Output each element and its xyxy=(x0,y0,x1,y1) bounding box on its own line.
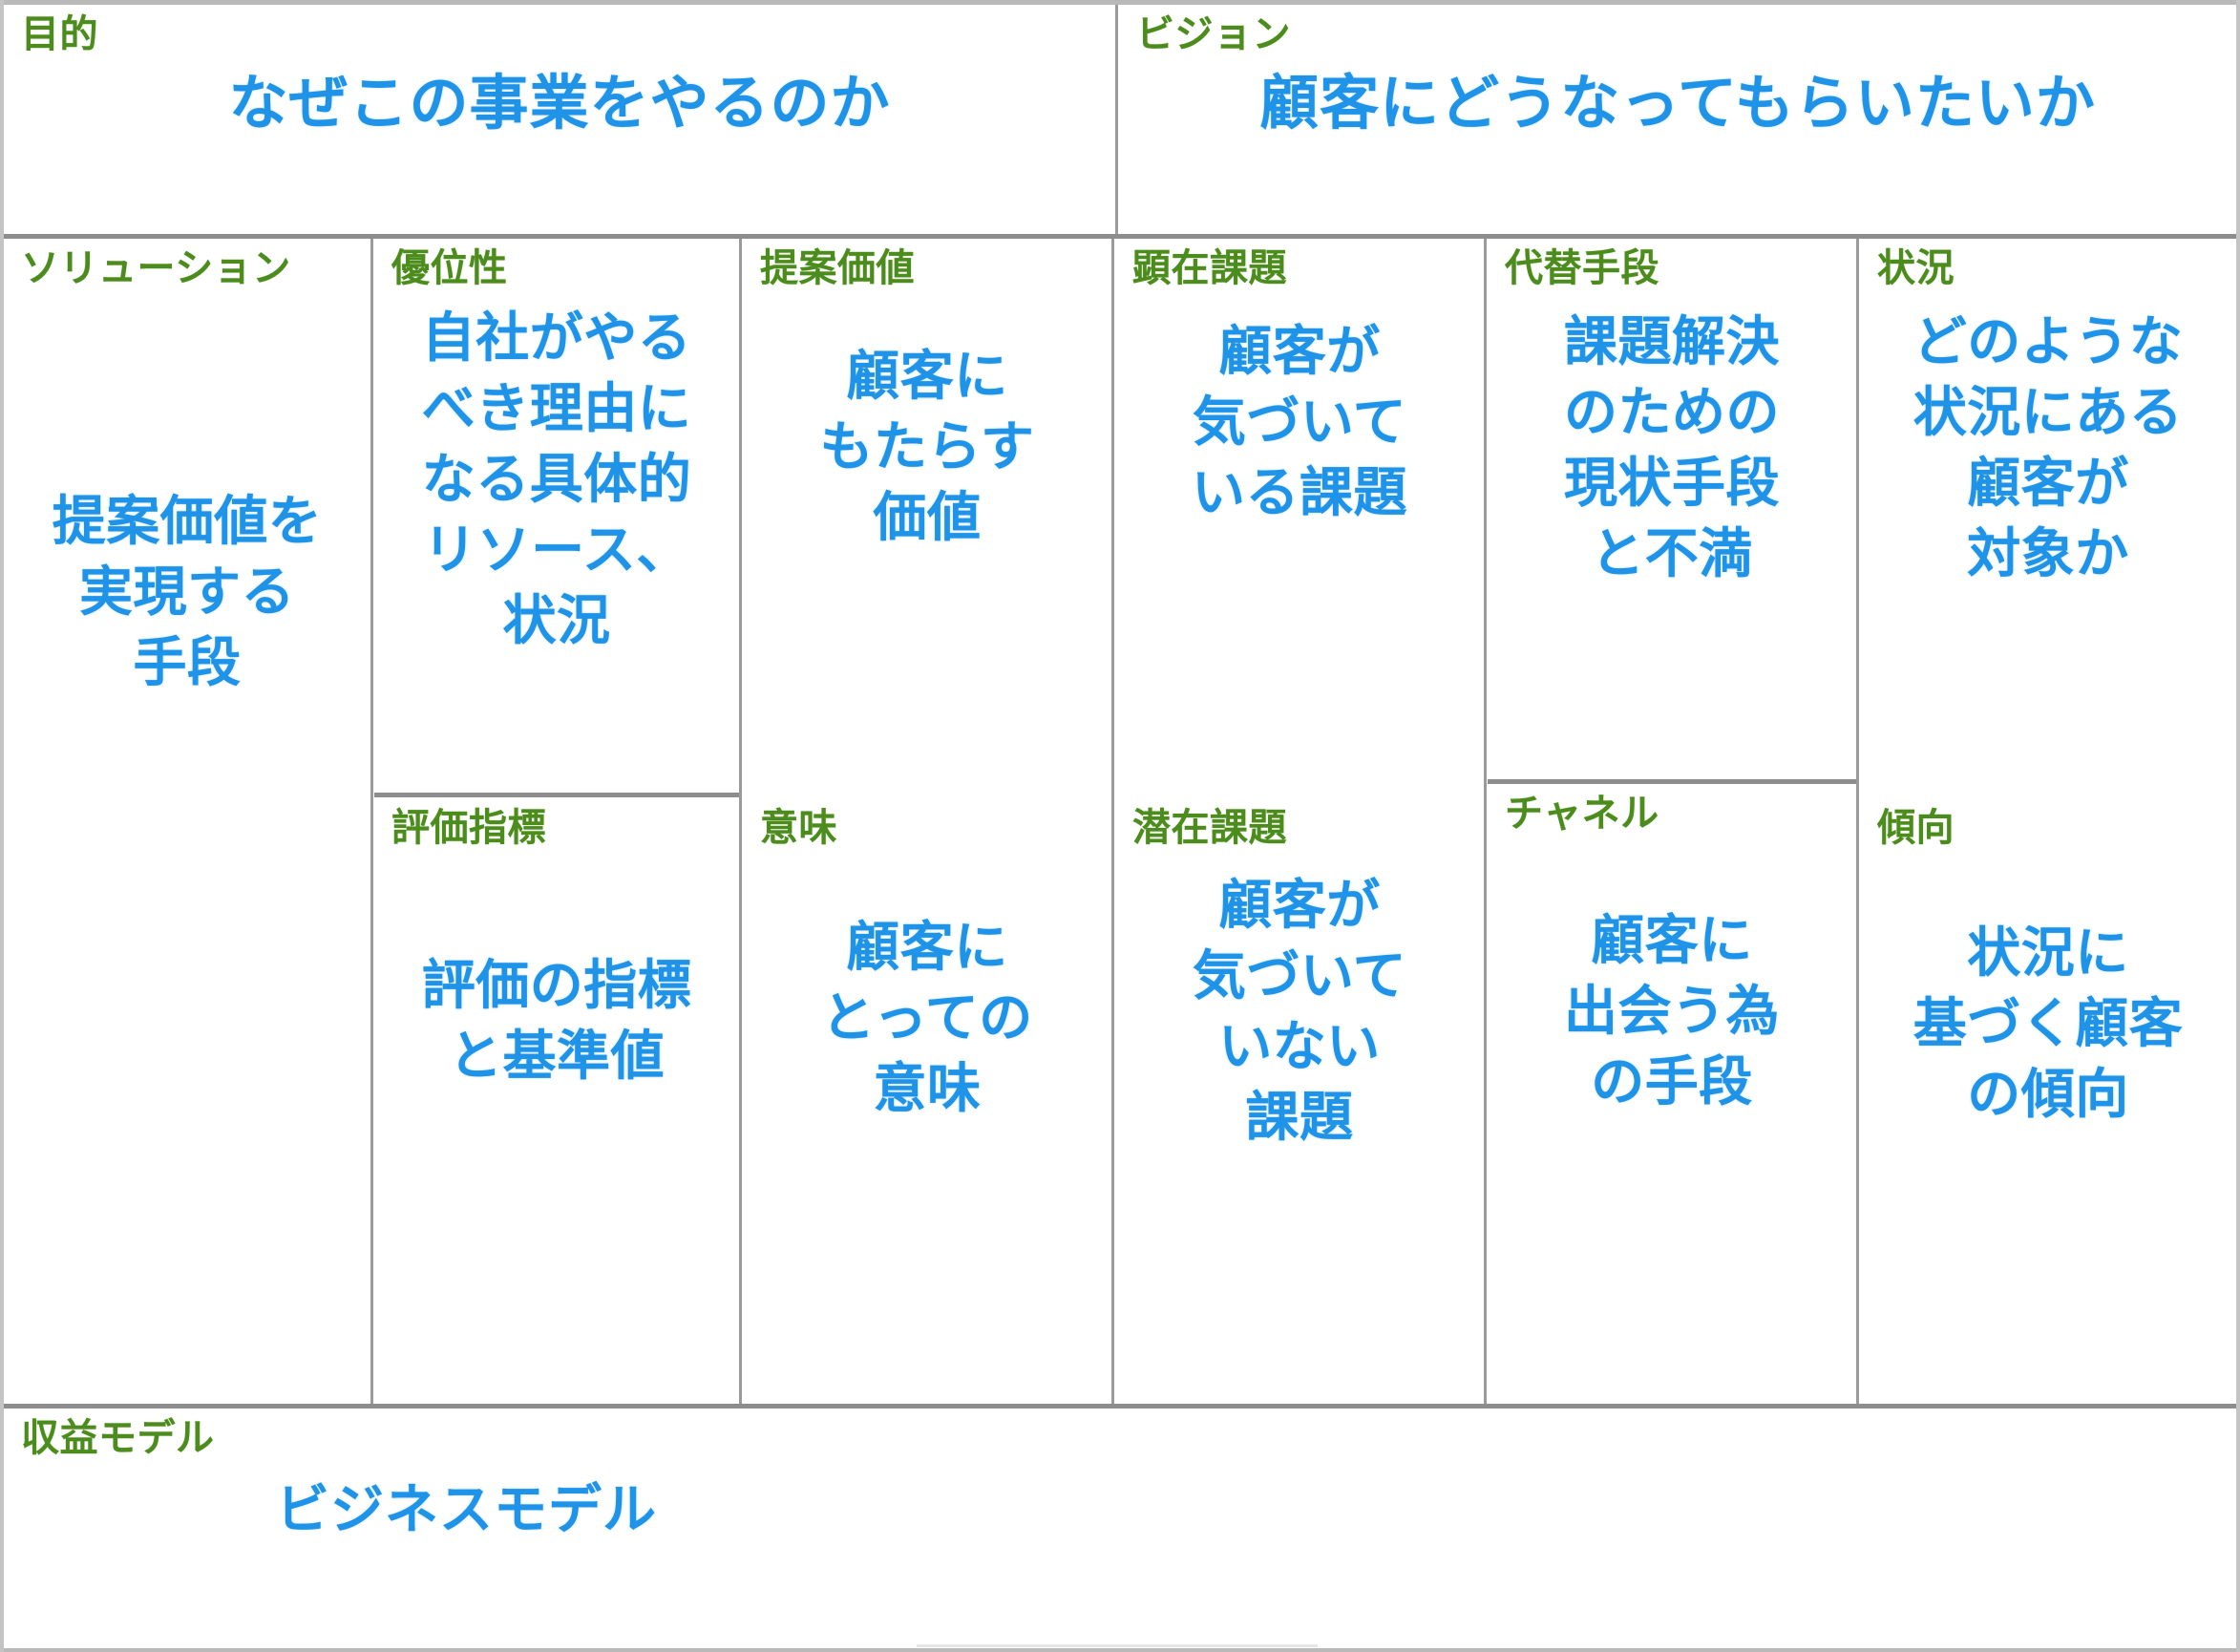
cell-metrics-label: 評価指標 xyxy=(391,806,546,850)
cell-channel-body: 顧客に 出会う為 の手段 xyxy=(1488,906,1856,1118)
cell-situation[interactable]: 状況 どのような 状況にある 顧客が 対象か xyxy=(1860,239,2236,793)
cell-tendency-body: 状況に 基づく顧客 の傾向 xyxy=(1860,919,2236,1131)
divider-top-vertical xyxy=(1115,5,1118,234)
divider-mid-v1 xyxy=(370,239,373,1406)
cell-alternatives[interactable]: 代替手段 課題解決 のための 現状手段 と不満 xyxy=(1488,239,1856,778)
cell-alternatives-body: 課題解決 のための 現状手段 と不満 xyxy=(1488,307,1856,590)
cell-purpose-label: 目的 xyxy=(21,12,98,56)
cell-metrics[interactable]: 評価指標 評価の指標 と基準値 xyxy=(374,798,739,1404)
divider-mid-v5 xyxy=(1856,239,1859,1406)
cell-channel[interactable]: チャネル 顧客に 出会う為 の手段 xyxy=(1488,784,1856,1404)
cell-explicit-problem-body: 顧客が 気づいて いる課題 xyxy=(1115,317,1484,529)
cell-latent-problem-body: 顧客が 気づいて いない 課題 xyxy=(1115,871,1484,1154)
bottom-artifact-line xyxy=(917,1644,1318,1647)
canvas-right-edge xyxy=(2236,0,2240,1652)
cell-latent-problem[interactable]: 潜在課題 顧客が 気づいて いない 課題 xyxy=(1115,798,1484,1404)
divider-mid-v3 xyxy=(1111,239,1114,1406)
cell-solution-body: 提案価値を 実現する 手段 xyxy=(4,487,370,699)
cell-explicit-problem-label: 顕在課題 xyxy=(1132,246,1287,290)
cell-meaning-body: 顧客に とっての 意味 xyxy=(743,913,1111,1125)
cell-meaning[interactable]: 意味 顧客に とっての 意味 xyxy=(743,798,1111,1404)
cell-latent-problem-label: 潜在課題 xyxy=(1132,806,1287,850)
cell-situation-label: 状況 xyxy=(1877,246,1955,290)
cell-value-proposition[interactable]: 提案価値 顧客に もたらす 価値 xyxy=(743,239,1111,793)
cell-meaning-label: 意味 xyxy=(760,806,837,850)
cell-advantage-body: 自社がやる べき理由に なる具体的 リソース、 状況 xyxy=(374,304,739,657)
divider-advantage-metrics xyxy=(374,793,739,797)
cell-value-proposition-label: 提案価値 xyxy=(760,246,915,290)
cell-revenue-model[interactable]: 収益モデル ビジネスモデル xyxy=(4,1408,2236,1623)
cell-situation-body: どのような 状況にある 顧客が 対象か xyxy=(1860,307,2236,590)
cell-advantage-label: 優位性 xyxy=(391,246,508,290)
cell-solution-label: ソリューション xyxy=(21,246,291,290)
cell-metrics-body: 評価の指標 と基準値 xyxy=(374,951,739,1092)
cell-advantage[interactable]: 優位性 自社がやる べき理由に なる具体的 リソース、 状況 xyxy=(374,239,739,793)
cell-tendency[interactable]: 傾向 状況に 基づく顧客 の傾向 xyxy=(1860,798,2236,1404)
cell-vision-body: 顧客にどうなってもらいたいか xyxy=(1119,64,2236,142)
cell-purpose-body: なぜこの事業をやるのか xyxy=(4,64,1115,142)
business-model-canvas: 目的 なぜこの事業をやるのか ビジョン 顧客にどうなってもらいたいか ソリューシ… xyxy=(0,0,2240,1652)
cell-value-proposition-body: 顧客に もたらす 価値 xyxy=(743,342,1111,554)
canvas-bottom-edge xyxy=(0,1648,2240,1652)
divider-alternatives-channel xyxy=(1488,779,1856,784)
cell-purpose[interactable]: 目的 なぜこの事業をやるのか xyxy=(4,5,1115,234)
cell-tendency-label: 傾向 xyxy=(1877,806,1955,850)
cell-solution[interactable]: ソリューション 提案価値を 実現する 手段 xyxy=(4,239,370,1404)
cell-revenue-model-label: 収益モデル xyxy=(21,1416,215,1460)
cell-vision[interactable]: ビジョン 顧客にどうなってもらいたいか xyxy=(1119,5,2236,234)
cell-explicit-problem[interactable]: 顕在課題 顧客が 気づいて いる課題 xyxy=(1115,239,1484,793)
divider-mid-v4 xyxy=(1484,239,1487,1406)
cell-alternatives-label: 代替手段 xyxy=(1505,246,1659,290)
cell-vision-label: ビジョン xyxy=(1136,12,1291,56)
cell-revenue-model-body: ビジネスモデル xyxy=(4,1475,2236,1546)
divider-mid-v2 xyxy=(739,239,742,1406)
cell-channel-label: チャネル xyxy=(1505,792,1659,836)
